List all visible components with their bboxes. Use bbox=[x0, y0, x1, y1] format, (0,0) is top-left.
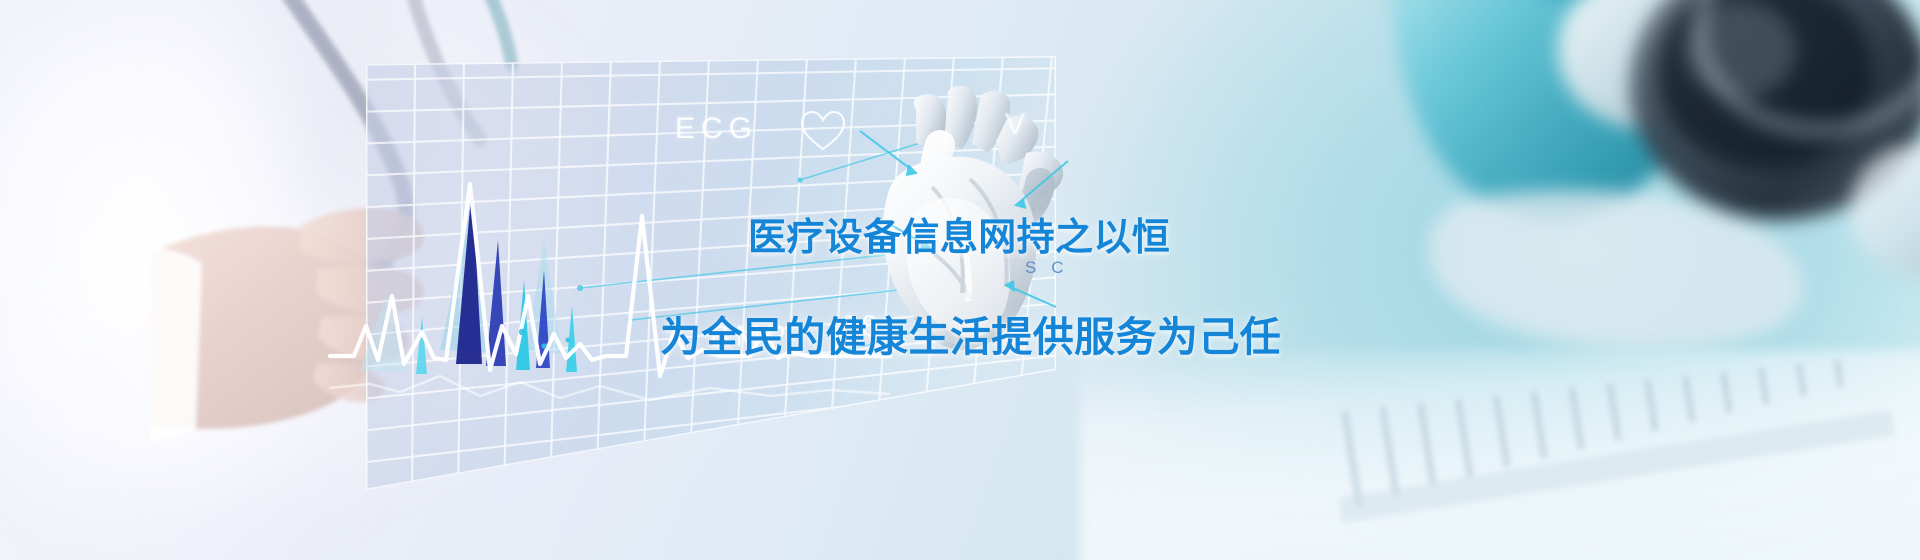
label-bmp: BMP bbox=[710, 320, 791, 354]
label-sc: S C bbox=[1025, 258, 1069, 278]
label-v: V bbox=[1005, 108, 1031, 142]
label-bmp-value: 68 bbox=[840, 310, 883, 344]
label-ecg: ECG bbox=[675, 112, 758, 146]
medical-hero-banner: ECG V BMP 68 S C 医疗设备信息网持之以恒 为全民的健康生活提供服… bbox=[0, 0, 1920, 560]
heart-outline-icon bbox=[800, 110, 846, 152]
